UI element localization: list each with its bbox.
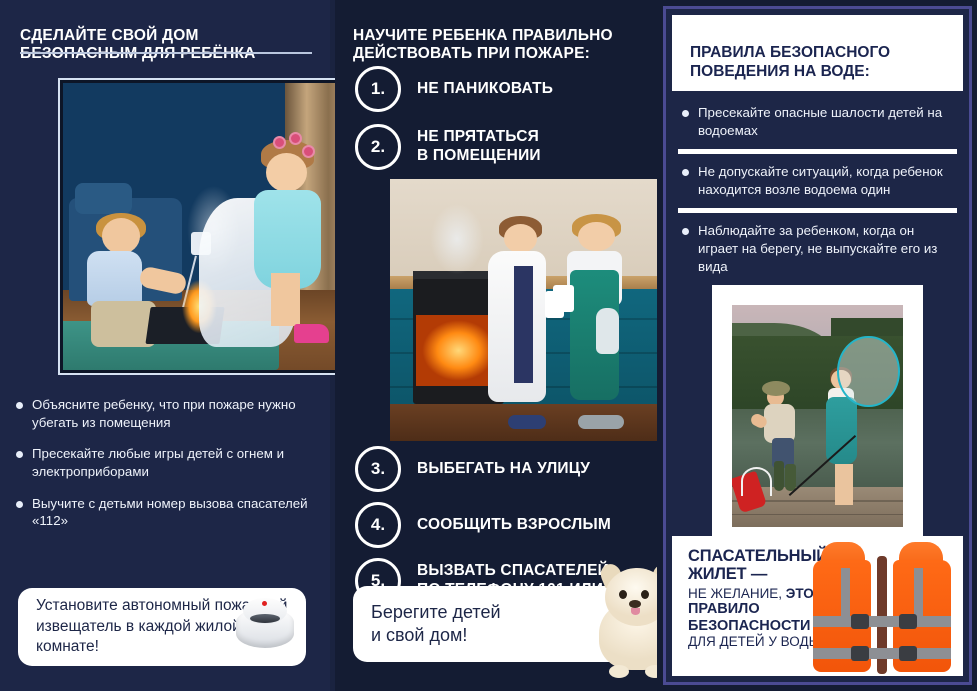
fishing-net-icon: [837, 336, 899, 407]
child-boy-figure: [559, 216, 638, 426]
list-item: 2. НЕ ПРЯТАТЬСЯ В ПОМЕЩЕНИИ: [355, 124, 655, 170]
step-text: НЕ ПАНИКОВАТЬ: [417, 80, 553, 99]
child-girl-figure: [486, 216, 559, 426]
title-line-1: НАУЧИТЕ РЕБЕНКА ПРАВИЛЬНО: [353, 27, 613, 44]
panel-water-safety: ПРАВИЛА БЕЗОПАСНОГО ПОВЕДЕНИЯ НА ВОДЕ: П…: [657, 0, 977, 691]
step-text: НЕ ПРЯТАТЬСЯ В ПОМЕЩЕНИИ: [417, 128, 541, 165]
title-line-1: ПРАВИЛА БЕЗОПАСНОГО: [690, 44, 890, 61]
photo-lake-children-frame: [712, 285, 923, 547]
list-item: 1. НЕ ПАНИКОВАТЬ: [355, 66, 655, 112]
fire-actions-steps-top: 1. НЕ ПАНИКОВАТЬ 2. НЕ ПРЯТАТЬСЯ В ПОМЕЩ…: [355, 66, 655, 182]
bullet-text: Пресекайте любые игры детей с огнем и эл…: [32, 445, 322, 480]
photo-kitchen-oven-fire: [390, 179, 682, 441]
callout-life-vest: СПАСАТЕЛЬНЫЙ ЖИЛЕТ — НЕ ЖЕЛАНИЕ, ЭТО ПРА…: [672, 536, 963, 676]
photo-lake-children: [732, 305, 903, 527]
callout-text: Берегите детей и свой дом!: [353, 601, 501, 648]
title-line-2: ДЕЙСТВОВАТЬ ПРИ ПОЖАРЕ:: [353, 45, 590, 62]
child-boy-figure: [759, 376, 807, 491]
photo-living-room-fire: [63, 83, 347, 370]
step-number-badge: 4.: [355, 502, 401, 548]
title-divider-rule: [20, 52, 312, 54]
bullet-text: Не допускайте ситуаций, когда ребенок на…: [698, 164, 943, 197]
steam-smoke: [419, 189, 495, 289]
callout-protect-children: Берегите детей и свой дом!: [353, 586, 635, 662]
bullet-dot-icon: [16, 501, 23, 508]
bullet-dot-icon: [16, 402, 23, 409]
bullet-dot-icon: [16, 451, 23, 458]
water-title-box: ПРАВИЛА БЕЗОПАСНОГО ПОВЕДЕНИЯ НА ВОДЕ:: [672, 15, 963, 91]
bullet-dot-icon: [682, 169, 689, 176]
list-item: Пресекайте опасные шалости детей на водо…: [672, 95, 963, 149]
list-item: Выучите с детьми номер вызова спасателей…: [16, 495, 322, 530]
step-number-badge: 1.: [355, 66, 401, 112]
panel-water-safety-title: ПРАВИЛА БЕЗОПАСНОГО ПОВЕДЕНИЯ НА ВОДЕ:: [690, 44, 953, 82]
water-safety-bullet-list: Пресекайте опасные шалости детей на водо…: [672, 95, 963, 285]
step-text: СООБЩИТЬ ВЗРОСЛЫМ: [417, 516, 611, 535]
bullet-text: Пресекайте опасные шалости детей на водо…: [698, 105, 942, 138]
panel-home-safety-title: СДЕЛАЙТЕ СВОЙ ДОМ БЕЗОПАСНЫМ ДЛЯ РЕБЁНКА: [20, 27, 310, 64]
bullet-text: Объясните ребенку, что при пожаре нужно …: [32, 396, 322, 431]
list-item: Пресекайте любые игры детей с огнем и эл…: [16, 445, 322, 480]
life-vest-icon: [807, 542, 957, 682]
list-item: Не допускайте ситуаций, когда ребенок на…: [672, 154, 963, 208]
step-number-badge: 3.: [355, 446, 401, 492]
bullet-dot-icon: [682, 110, 689, 117]
list-item: Объясните ребенку, что при пожаре нужно …: [16, 396, 322, 431]
vest-line-2-light: НЕ ЖЕЛАНИЕ,: [688, 586, 786, 601]
step-text: ВЫБЕГАТЬ НА УЛИЦУ: [417, 460, 590, 479]
step-number-badge: 2.: [355, 124, 401, 170]
bullet-text: Выучите с детьми номер вызова спасателей…: [32, 495, 322, 530]
child-girl-figure: [248, 140, 333, 347]
safety-poster: СДЕЛАЙТЕ СВОЙ ДОМ БЕЗОПАСНЫМ ДЛЯ РЕБЁНКА: [0, 0, 977, 691]
title-line-1: СДЕЛАЙТЕ СВОЙ ДОМ: [20, 27, 199, 44]
title-line-2: ПОВЕДЕНИЯ НА ВОДЕ:: [690, 63, 870, 80]
bullet-dot-icon: [682, 228, 689, 235]
panel-fire-actions-title: НАУЧИТЕ РЕБЕНКА ПРАВИЛЬНО ДЕЙСТВОВАТЬ ПР…: [353, 27, 649, 64]
panel-home-safety: СДЕЛАЙТЕ СВОЙ ДОМ БЕЗОПАСНЫМ ДЛЯ РЕБЁНКА: [0, 0, 330, 691]
bullet-text: Наблюдайте за ребенком, когда он играет …: [698, 223, 937, 274]
callout-smoke-detector: Установите автономный пожарный извещател…: [18, 588, 306, 666]
photo-frame-living-room-fire: [58, 78, 352, 375]
panel-fire-actions: НАУЧИТЕ РЕБЕНКА ПРАВИЛЬНО ДЕЙСТВОВАТЬ ПР…: [335, 0, 657, 691]
list-item: 3. ВЫБЕГАТЬ НА УЛИЦУ: [355, 446, 655, 492]
list-item: Наблюдайте за ребенком, когда он играет …: [672, 213, 963, 285]
list-item: 4. СООБЩИТЬ ВЗРОСЛЫМ: [355, 502, 655, 548]
home-safety-bullet-list: Объясните ребенку, что при пожаре нужно …: [16, 396, 322, 544]
smoke-detector-icon: [232, 594, 298, 656]
